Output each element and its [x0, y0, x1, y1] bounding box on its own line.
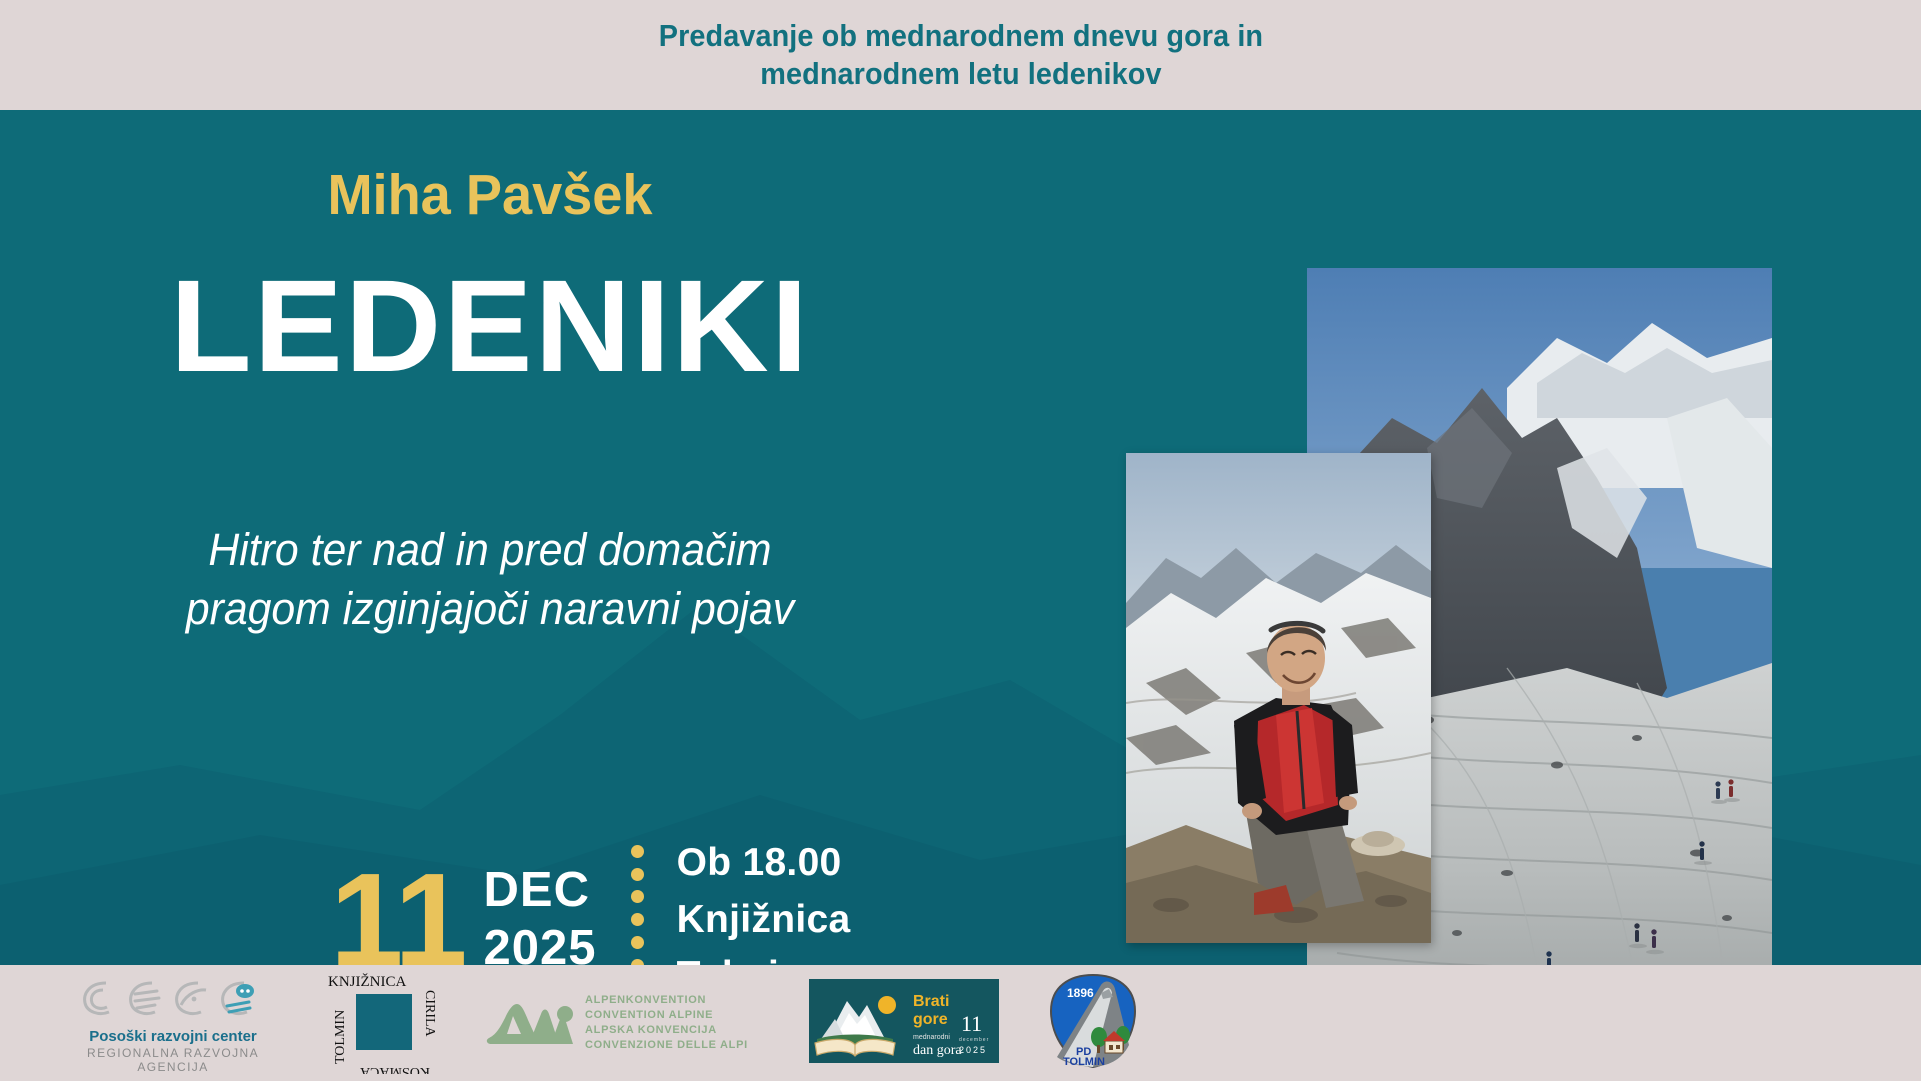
knjiznica-bottom-label: KOSMAČA — [359, 1064, 430, 1074]
alpine-convention-text: ALPENKONVENTION CONVENTION ALPINE ALPSKA… — [585, 993, 748, 1052]
speaker-portrait-photo — [1126, 453, 1431, 943]
event-month: DEC — [484, 862, 597, 920]
dotted-divider-icon — [631, 845, 645, 965]
alp-line-3: ALPSKA KONVENCIJA — [585, 1023, 748, 1038]
knjiznica-top-label: KNJIŽNICA — [328, 973, 406, 990]
prc-mark-icon — [73, 973, 273, 1021]
alp-line-1: ALPENKONVENTION — [585, 993, 748, 1008]
brati-gore-mark-icon: Brati gore mednarodni dan gora 11 decemb… — [809, 979, 999, 1063]
left-content-column: Miha Pavšek LEDENIKI Hitro ter nad in pr… — [0, 110, 1110, 965]
main-teal-panel: Miha Pavšek LEDENIKI Hitro ter nad in pr… — [0, 110, 1921, 965]
pd-name-2: TOLMIN — [1063, 1056, 1105, 1068]
brati-year: 2025 — [959, 1045, 987, 1055]
knjiznica-mark-icon: KNJIŽNICA CIRILA KOSMAČA TOLMIN — [314, 968, 444, 1074]
event-year: 2025 — [484, 920, 597, 965]
event-poster: Predavanje ob mednarodnem dnevu gora in … — [0, 0, 1921, 1081]
pd-year: 1896 — [1067, 986, 1094, 1000]
subtitle: Hitro ter nad in pred domačim pragom izg… — [25, 520, 956, 639]
knjiznica-right-label: CIRILA — [422, 990, 437, 1038]
brati-tagline: dan gora — [913, 1043, 962, 1058]
brati-day: 11 — [961, 1011, 982, 1036]
header-title: Predavanje ob mednarodnem dnevu gora in … — [658, 17, 1262, 93]
logo-brati-gore: Brati gore mednarodni dan gora 11 decemb… — [809, 979, 999, 1068]
logo-row: Posoški razvojni center REGIONALNA RAZVO… — [0, 965, 1921, 1081]
event-details: 11 DEC 2025 Ob 18.00 Knjižnica Tolmin — [330, 835, 850, 965]
header-band: Predavanje ob mednarodnem dnevu gora in … — [0, 0, 1921, 110]
event-time: Ob 18.00 — [677, 835, 851, 892]
prc-subtitle: REGIONALNA RAZVOJNA AGENCIJA — [58, 1046, 288, 1074]
knjiznica-left-label: TOLMIN — [333, 1009, 348, 1063]
logo-alpska-konvencija: ALPENKONVENTION CONVENTION ALPINE ALPSKA… — [483, 993, 773, 1052]
logo-pososki-razvojni-center: Posoški razvojni center REGIONALNA RAZVO… — [58, 973, 288, 1074]
prc-name: Posoški razvojni center — [58, 1028, 288, 1045]
event-venue: Ob 18.00 Knjižnica Tolmin — [677, 835, 851, 965]
header-line-1: Predavanje ob mednarodnem dnevu gora in — [658, 17, 1262, 55]
brati-title-1: Brati — [913, 993, 949, 1010]
logo-knjiznica-cirila-kosmaca-tolmin: KNJIŽNICA CIRILA KOSMAČA TOLMIN — [314, 968, 449, 1079]
alpine-convention-mark-icon — [483, 994, 579, 1052]
page-title: LEDENIKI — [0, 260, 990, 391]
subtitle-line-1: Hitro ter nad in pred domačim — [25, 520, 956, 579]
event-day: 11 — [330, 862, 466, 965]
brati-title-2: gore — [913, 1011, 948, 1028]
header-line-2: mednarodnem letu ledenikov — [658, 55, 1262, 93]
brati-month: december — [959, 1037, 989, 1043]
event-month-year: DEC 2025 — [484, 862, 597, 965]
alp-line-4: CONVENZIONE DELLE ALPI — [585, 1038, 748, 1053]
brati-small: mednarodni — [913, 1034, 950, 1041]
venue-line-1: Knjižnica — [677, 892, 851, 949]
footer-logo-bar: Posoški razvojni center REGIONALNA RAZVO… — [0, 965, 1921, 1081]
speaker-name: Miha Pavšek — [25, 162, 956, 228]
pd-tolmin-badge-icon: 1896 PD TOLMIN — [1043, 971, 1143, 1071]
subtitle-line-2: pragom izginjajoči naravni pojav — [25, 579, 956, 638]
alp-line-2: CONVENTION ALPINE — [585, 1008, 748, 1023]
logo-pd-tolmin: 1896 PD TOLMIN — [1043, 971, 1153, 1076]
venue-line-2: Tolmin — [677, 948, 851, 965]
